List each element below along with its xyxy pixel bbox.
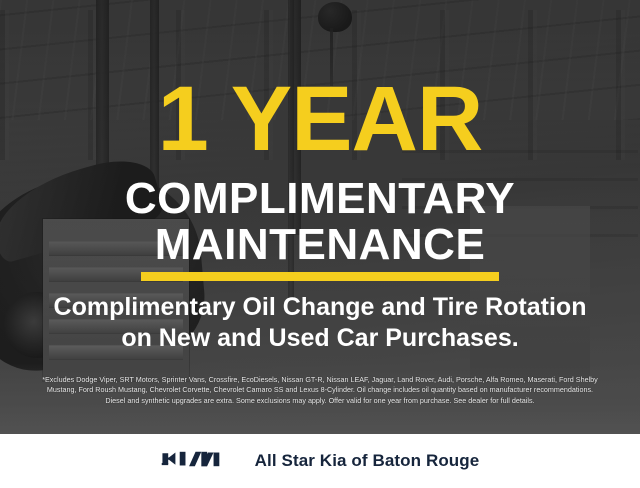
headline-secondary-line-1: COMPLIMENTARY (0, 176, 640, 222)
offer-line-1: Complimentary Oil Change and Tire Rotati… (0, 292, 640, 323)
disclaimer-line-3: Diesel and synthetic upgrades are extra.… (14, 396, 626, 406)
disclaimer-line-1: *Excludes Dodge Viper, SRT Motors, Sprin… (14, 375, 626, 385)
kia-logo-icon (161, 448, 233, 475)
yellow-divider-rule (141, 272, 499, 281)
disclaimer-line-2: Mustang, Ford Roush Mustang, Chevrolet C… (14, 385, 626, 395)
offer-line-2: on New and Used Car Purchases. (0, 323, 640, 354)
dealer-name: All Star Kia of Baton Rouge (255, 451, 480, 471)
headline-primary: 1 YEAR (0, 73, 640, 165)
promotional-banner: 1 YEAR COMPLIMENTARY MAINTENANCE Complim… (0, 0, 640, 488)
offer-description: Complimentary Oil Change and Tire Rotati… (0, 292, 640, 354)
disclaimer-fine-print: *Excludes Dodge Viper, SRT Motors, Sprin… (14, 375, 626, 406)
footer-brand-bar: All Star Kia of Baton Rouge (0, 434, 640, 488)
headline-secondary: COMPLIMENTARY MAINTENANCE (0, 176, 640, 268)
banner-content: 1 YEAR COMPLIMENTARY MAINTENANCE Complim… (0, 0, 640, 434)
headline-secondary-line-2: MAINTENANCE (0, 222, 640, 268)
